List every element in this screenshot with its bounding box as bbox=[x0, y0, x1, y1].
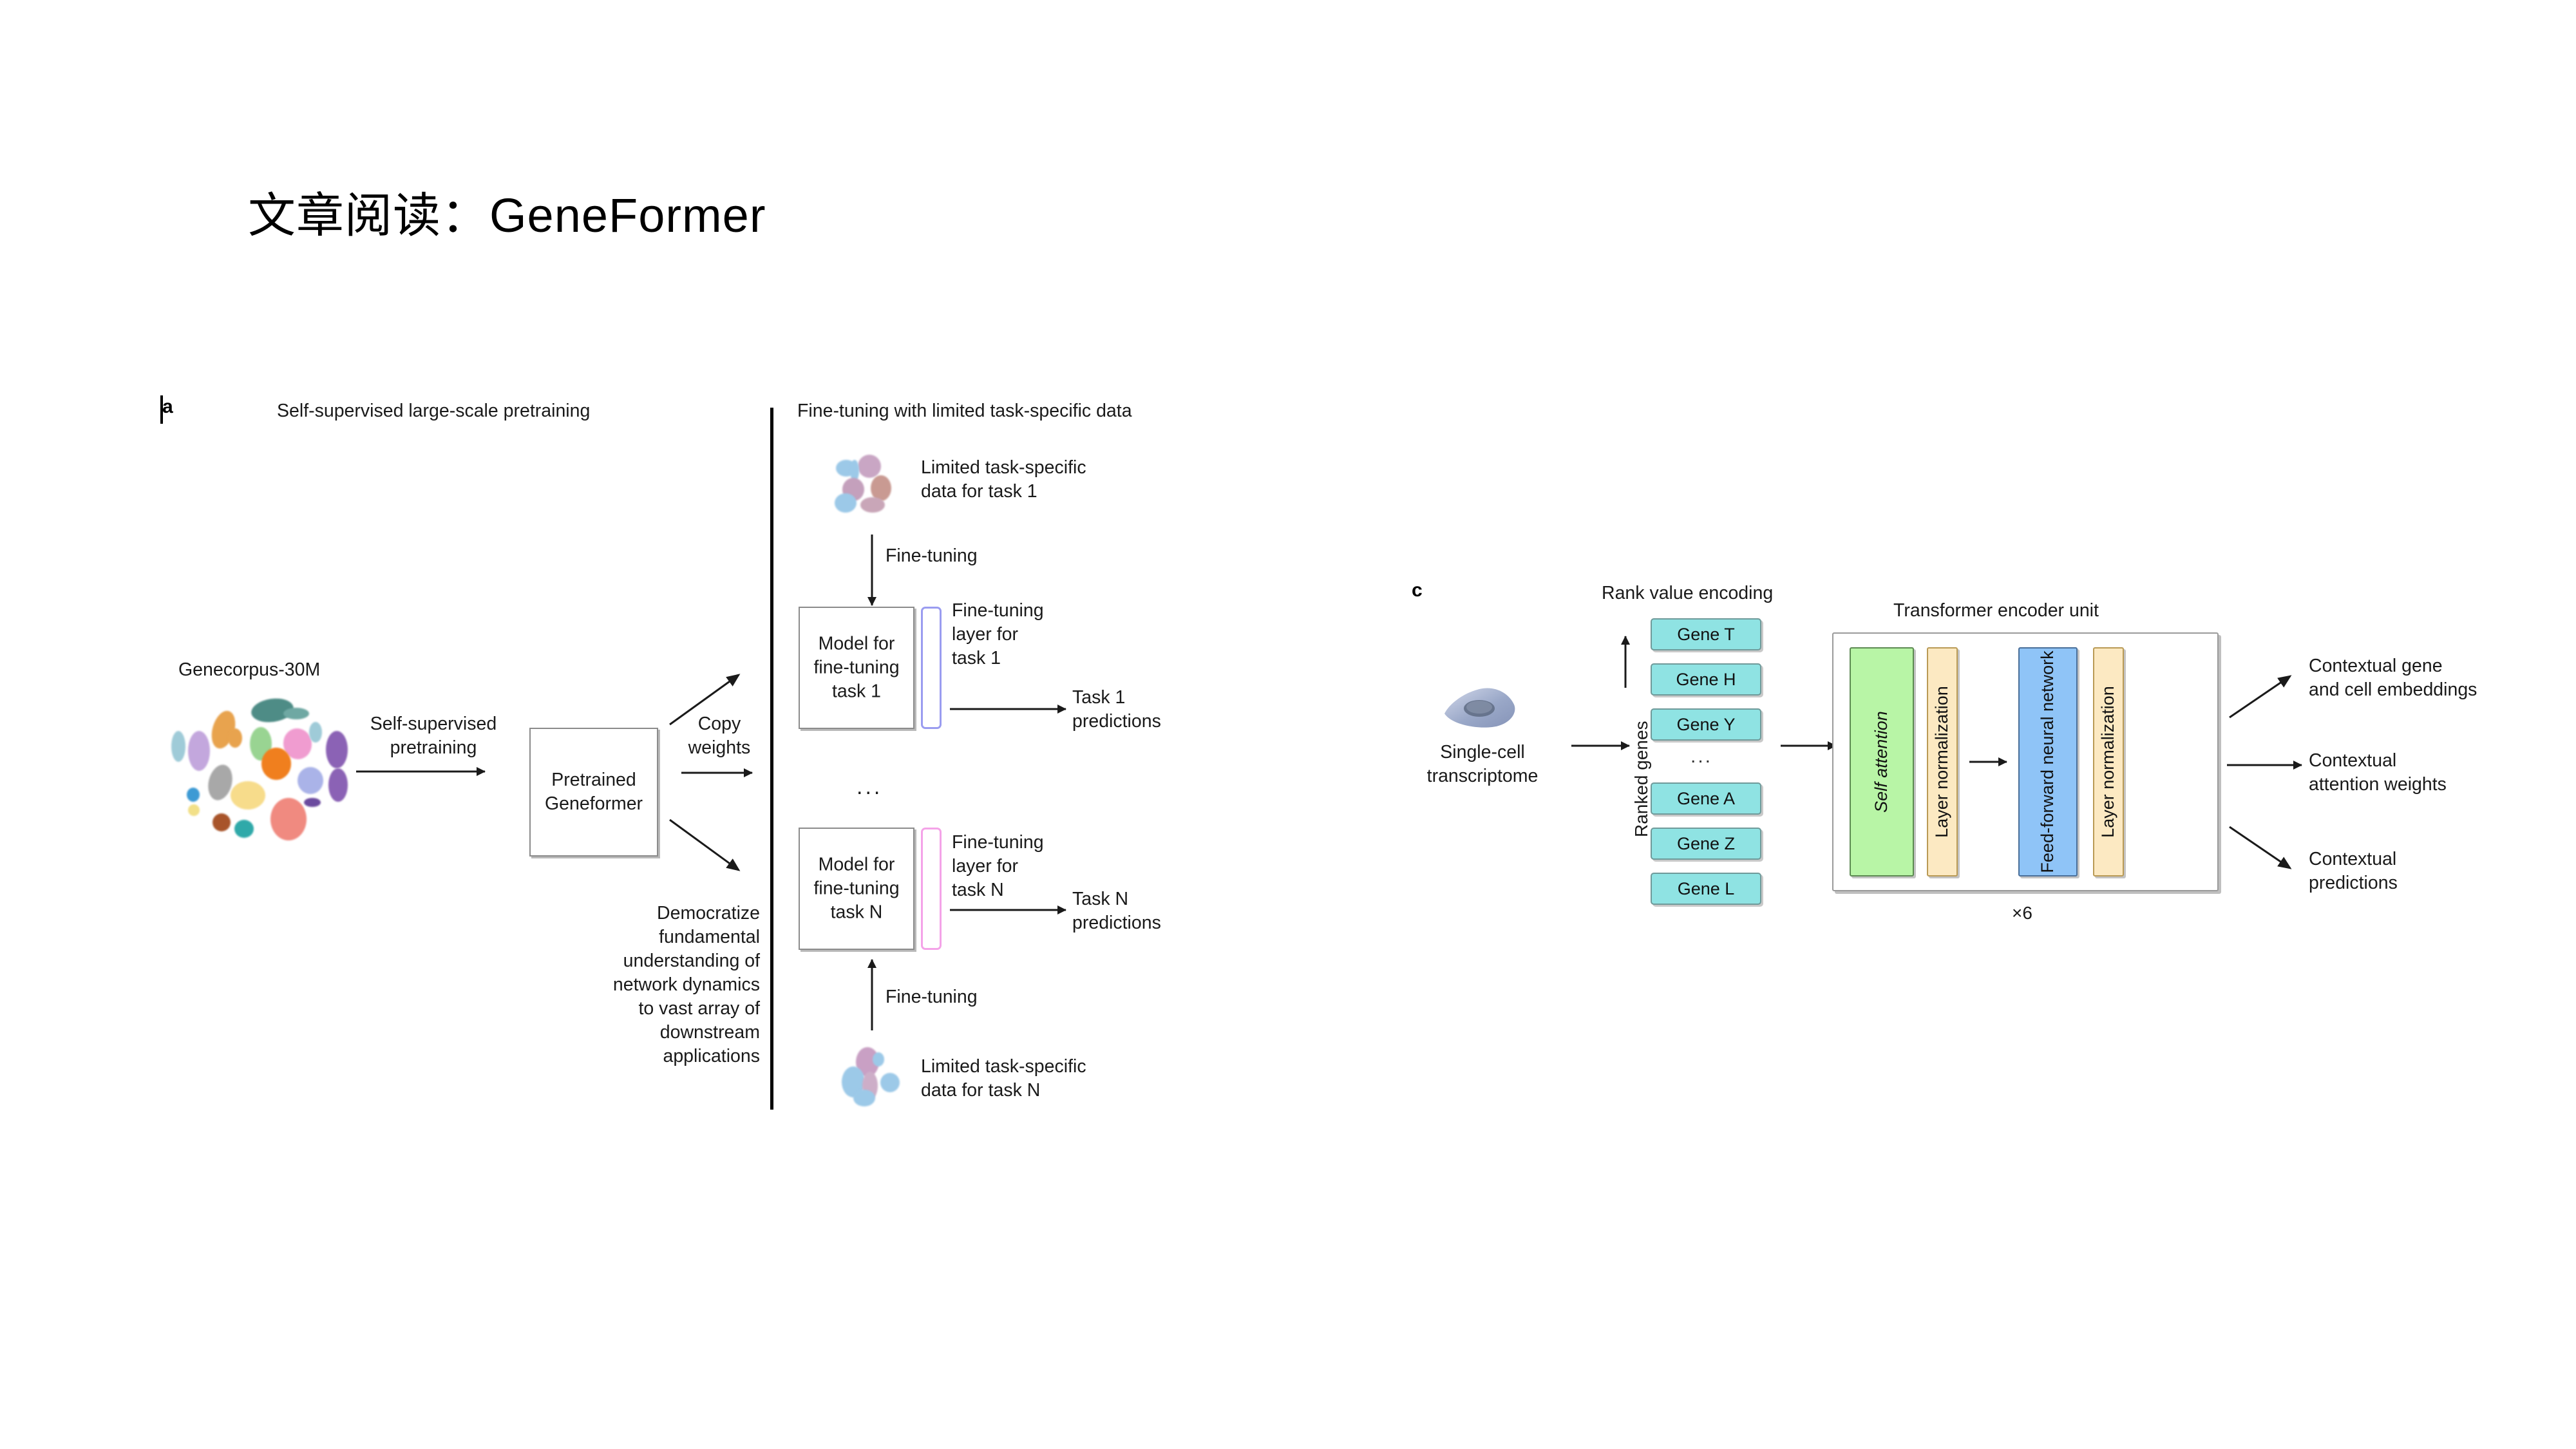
task1-finetuning-layer-bar bbox=[921, 607, 942, 729]
encoder-internal-arrow bbox=[1969, 757, 2007, 767]
taskN-predictions-label: Task N predictions bbox=[1072, 887, 1161, 935]
transformer-encoder-heading: Transformer encoder unit bbox=[1893, 599, 2099, 623]
rank-value-encoding-heading: Rank value encoding bbox=[1602, 582, 1773, 605]
layer-normalization-label-1: Layer normalization bbox=[1931, 686, 1953, 838]
output-predictions-label: Contextual predictions bbox=[2309, 848, 2398, 895]
rank-to-encoder-arrow bbox=[1781, 741, 1836, 751]
gene-box-l[interactable]: Gene L bbox=[1651, 873, 1761, 905]
pretraining-arrow bbox=[356, 766, 485, 777]
self-attention-block: Self attention bbox=[1850, 647, 1914, 876]
single-cell-icon bbox=[1439, 667, 1523, 735]
task1-finetune-label: Fine-tuning bbox=[885, 544, 978, 568]
layer-normalization-block-1: Layer normalization bbox=[1927, 647, 1958, 876]
figure-geneformer-overview: a Self-supervised large-scale pretrainin… bbox=[0, 0, 2576, 1449]
taskN-data-umap bbox=[834, 1043, 908, 1111]
gene-box-t-label: Gene T bbox=[1652, 620, 1760, 649]
gene-box-a[interactable]: Gene A bbox=[1651, 782, 1761, 815]
feed-forward-block: Feed-forward neural network bbox=[2018, 647, 2078, 876]
gene-box-y[interactable]: Gene Y bbox=[1651, 708, 1761, 741]
output-attention-arrow bbox=[2227, 760, 2302, 770]
democratize-down-arrow bbox=[667, 815, 747, 876]
taskN-finetuning-layer-bar bbox=[921, 828, 942, 950]
output-embeddings-arrow bbox=[2227, 671, 2298, 721]
taskN-finetune-arrow bbox=[867, 960, 877, 1030]
genecorpus-label: Genecorpus-30M bbox=[178, 658, 320, 682]
output-embeddings-label: Contextual gene and cell embeddings bbox=[2309, 654, 2477, 702]
task1-data-umap bbox=[831, 451, 908, 522]
copy-weights-arrow bbox=[681, 768, 752, 778]
panel-a-left-heading: Self-supervised large-scale pretraining bbox=[277, 399, 590, 423]
panel-a-letter: a bbox=[162, 396, 173, 418]
gene-list-ellipsis: ... bbox=[1690, 746, 1712, 768]
gene-box-y-label: Gene Y bbox=[1652, 710, 1760, 739]
copy-weights-up-arrow bbox=[667, 670, 747, 728]
ranked-genes-axis-arrow bbox=[1620, 636, 1631, 688]
gene-box-z[interactable]: Gene Z bbox=[1651, 828, 1761, 860]
task1-model-box: Model for fine-tuning task 1 bbox=[799, 607, 914, 729]
slide-canvas: 文章阅读：GeneFormer a Self-supervised large-… bbox=[0, 0, 2576, 1449]
output-attention-label: Contextual attention weights bbox=[2309, 749, 2447, 797]
taskN-data-label: Limited task-specific data for task N bbox=[921, 1055, 1086, 1103]
task1-data-label: Limited task-specific data for task 1 bbox=[921, 456, 1086, 504]
taskN-model-box: Model for fine-tuning task N bbox=[799, 828, 914, 950]
layer-normalization-block-2: Layer normalization bbox=[2093, 647, 2124, 876]
panel-a-right-heading: Fine-tuning with limited task-specific d… bbox=[797, 399, 1132, 423]
encoder-repeat-label: ×6 bbox=[1971, 902, 2074, 925]
taskN-ft-layer-label: Fine-tuning layer for task N bbox=[952, 831, 1044, 902]
pretrained-geneformer-box: Pretrained Geneformer bbox=[529, 728, 658, 857]
task1-predictions-arrow bbox=[950, 704, 1066, 714]
ranked-genes-axis-label: Ranked genes bbox=[1631, 721, 1652, 837]
gene-box-z-label: Gene Z bbox=[1652, 829, 1760, 858]
genecorpus-umap-plot bbox=[169, 691, 362, 878]
single-cell-to-rank-arrow bbox=[1571, 741, 1629, 751]
gene-box-h-label: Gene H bbox=[1652, 665, 1760, 694]
task1-ft-layer-label: Fine-tuning layer for task 1 bbox=[952, 599, 1044, 670]
task1-finetune-arrow bbox=[867, 535, 877, 605]
panel-divider-line bbox=[770, 408, 773, 1110]
task-ellipsis: ... bbox=[857, 773, 882, 801]
self-attention-label: Self attention bbox=[1871, 711, 1893, 813]
task1-model-label: Model for fine-tuning task 1 bbox=[800, 632, 913, 703]
layer-normalization-label-2: Layer normalization bbox=[2098, 686, 2119, 838]
task1-predictions-label: Task 1 predictions bbox=[1072, 686, 1161, 734]
single-cell-label: Single-cell transcriptome bbox=[1405, 741, 1560, 788]
gene-box-a-label: Gene A bbox=[1652, 784, 1760, 813]
democratize-text: Democratize fundamental understanding of… bbox=[567, 902, 760, 1068]
taskN-finetune-label: Fine-tuning bbox=[885, 985, 978, 1009]
taskN-predictions-arrow bbox=[950, 905, 1066, 915]
panel-c-letter: c bbox=[1412, 580, 1423, 601]
taskN-model-label: Model for fine-tuning task N bbox=[800, 853, 913, 924]
gene-box-t[interactable]: Gene T bbox=[1651, 618, 1761, 650]
output-predictions-arrow bbox=[2227, 823, 2298, 873]
feed-forward-label: Feed-forward neural network bbox=[2037, 650, 2059, 873]
gene-box-l-label: Gene L bbox=[1652, 874, 1760, 904]
pretraining-arrow-label: Self-supervised pretraining bbox=[353, 712, 514, 760]
gene-box-h[interactable]: Gene H bbox=[1651, 663, 1761, 696]
pretrained-geneformer-label: Pretrained Geneformer bbox=[531, 768, 657, 816]
